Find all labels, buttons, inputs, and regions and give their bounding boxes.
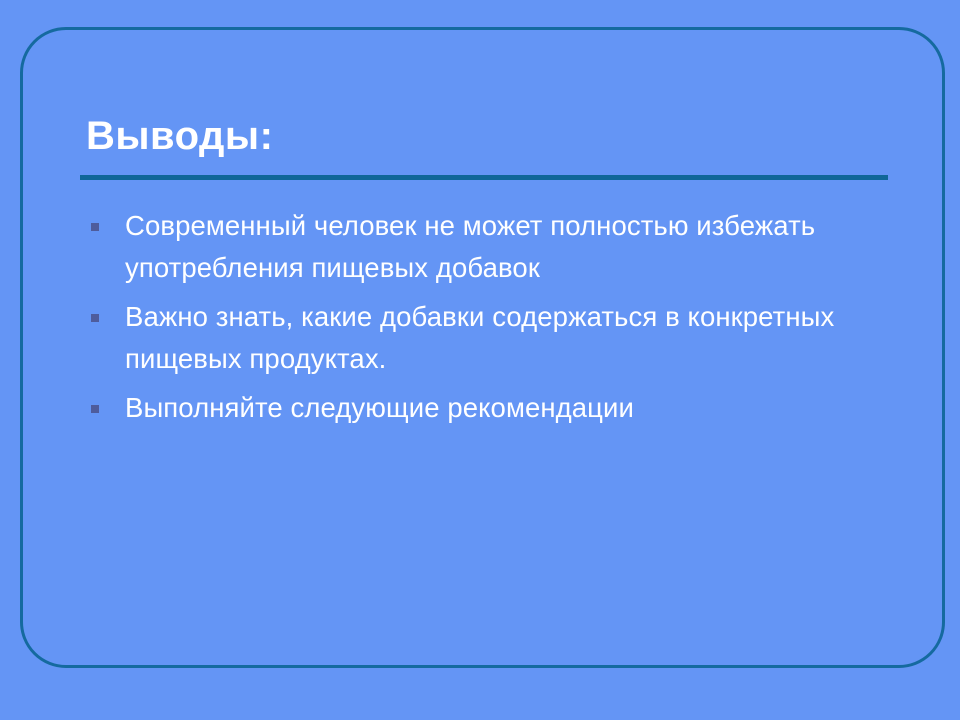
square-bullet-icon — [91, 223, 99, 231]
list-item-text: Выполняйте следующие рекомендации — [125, 387, 880, 429]
list-item-text: Современный человек не может полностью и… — [125, 205, 880, 289]
square-bullet-icon — [91, 405, 99, 413]
list-item: Выполняйте следующие рекомендации — [80, 387, 880, 429]
page-title: Выводы: — [86, 115, 273, 157]
square-bullet-icon — [91, 314, 99, 322]
list-item-text: Важно знать, какие добавки содержаться в… — [125, 296, 880, 380]
list-item: Важно знать, какие добавки содержаться в… — [80, 296, 880, 380]
bullet-list: Современный человек не может полностью и… — [80, 205, 880, 436]
title-divider — [80, 175, 888, 180]
list-item: Современный человек не может полностью и… — [80, 205, 880, 289]
presentation-slide: Выводы: Современный человек не может пол… — [0, 0, 960, 720]
